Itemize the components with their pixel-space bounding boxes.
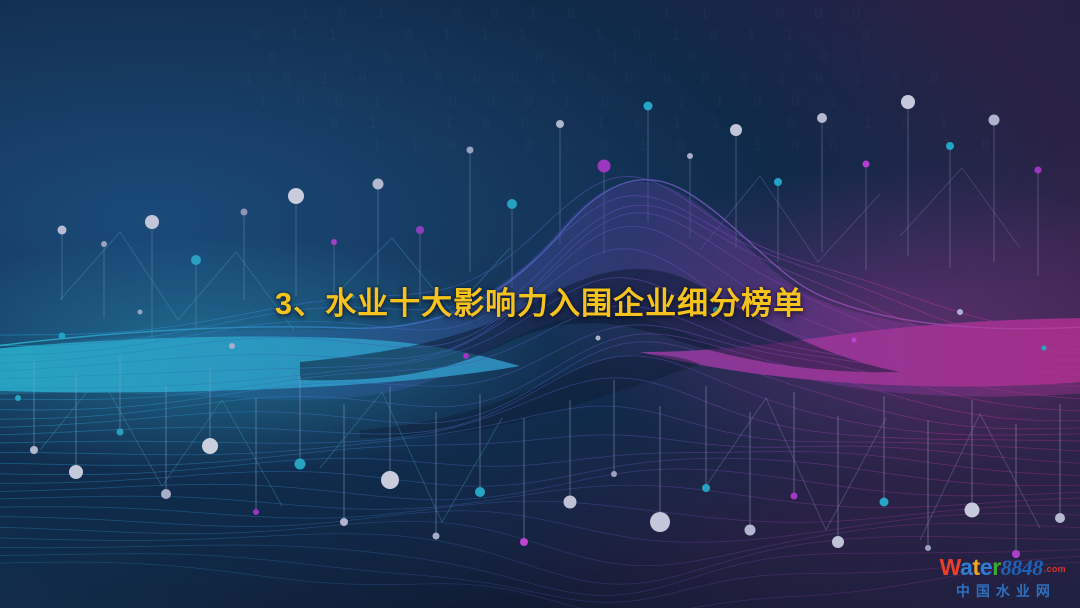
logo-number: 8848 xyxy=(1001,555,1043,580)
logo-letter-a: a xyxy=(960,554,972,580)
logo-letter-e: e xyxy=(980,554,992,580)
logo-letter-r: r xyxy=(992,554,1001,580)
logo-subtitle: 中国水业网 xyxy=(940,584,1066,598)
logo-wordmark: Water8848.com xyxy=(940,556,1066,579)
site-logo[interactable]: Water8848.com 中国水业网 xyxy=(940,556,1066,598)
title-block: 3、水业十大影响力入围企业细分榜单 xyxy=(0,278,1080,323)
logo-letter-w: W xyxy=(940,554,960,580)
slide-canvas: 1 0 1 0 0 1 0 1 1 0 0 0 0 1 1 0 1 1 1 1 … xyxy=(0,0,1080,608)
logo-tld: .com xyxy=(1044,564,1066,574)
logo-letter-t: t xyxy=(973,554,980,580)
page-title: 3、水业十大影响力入围企业细分榜单 xyxy=(275,278,805,323)
